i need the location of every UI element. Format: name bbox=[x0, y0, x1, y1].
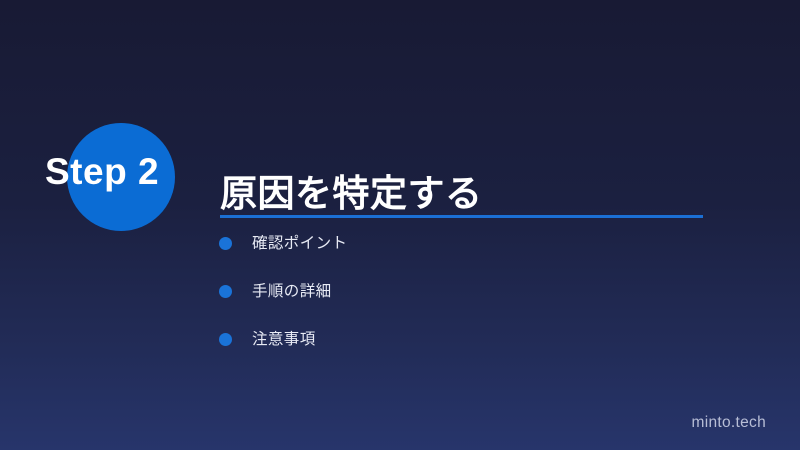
footer-brand: minto.tech bbox=[691, 414, 766, 432]
bullet-item-label: 注意事項 bbox=[252, 332, 316, 348]
slide-canvas: Step 2 原因を特定する 確認ポイント 手順の詳細 注意事項 minto.t… bbox=[0, 0, 800, 450]
list-item: 確認ポイント bbox=[219, 236, 699, 284]
bullet-list: 確認ポイント 手順の詳細 注意事項 bbox=[219, 236, 699, 380]
title-divider bbox=[220, 215, 703, 218]
bullet-item-label: 手順の詳細 bbox=[252, 284, 332, 300]
list-item: 手順の詳細 bbox=[219, 284, 699, 332]
bullet-item-label: 確認ポイント bbox=[252, 236, 347, 252]
bullet-dot-icon bbox=[219, 333, 232, 346]
bullet-dot-icon bbox=[219, 237, 232, 250]
slide-title: 原因を特定する bbox=[220, 171, 483, 217]
list-item: 注意事項 bbox=[219, 332, 699, 380]
bullet-dot-icon bbox=[219, 285, 232, 298]
step-number-label: Step 2 bbox=[45, 152, 215, 196]
